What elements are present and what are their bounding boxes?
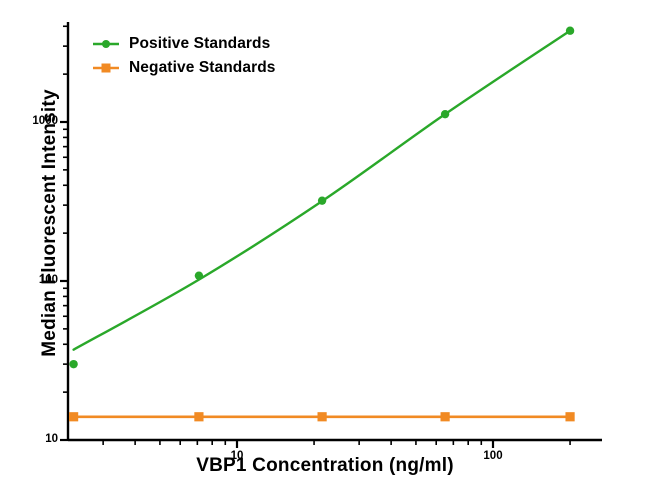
data-point [69,360,77,368]
legend-square-marker-icon [92,61,120,75]
chart-legend: Positive StandardsNegative Standards [92,32,276,80]
chart-figure: 101001000 10100 VBP1 Concentration (ng/m… [0,0,650,492]
data-point [318,412,327,421]
x-axis-title: VBP1 Concentration (ng/ml) [0,455,650,477]
data-point [441,412,450,421]
legend-item-label: Negative Standards [129,59,276,77]
axis-lines [68,22,602,440]
legend-circle-marker-icon [92,37,120,51]
data-point [194,412,203,421]
data-point [566,27,574,35]
data-point [565,412,574,421]
data-point [441,110,449,118]
data-point [69,412,78,421]
data-point [195,271,203,279]
x-axis-ticks [103,440,570,448]
legend-item-positive-standards[interactable]: Positive Standards [92,32,276,56]
y-tick-label: 10 [12,433,58,445]
legend-item-negative-standards[interactable]: Negative Standards [92,56,276,80]
legend-item-label: Positive Standards [129,35,270,53]
data-point [318,196,326,204]
y-axis-title: Median Fluorescent Intensity [39,68,61,378]
data-series-layer [69,27,575,422]
series-negative-standards [69,412,575,421]
